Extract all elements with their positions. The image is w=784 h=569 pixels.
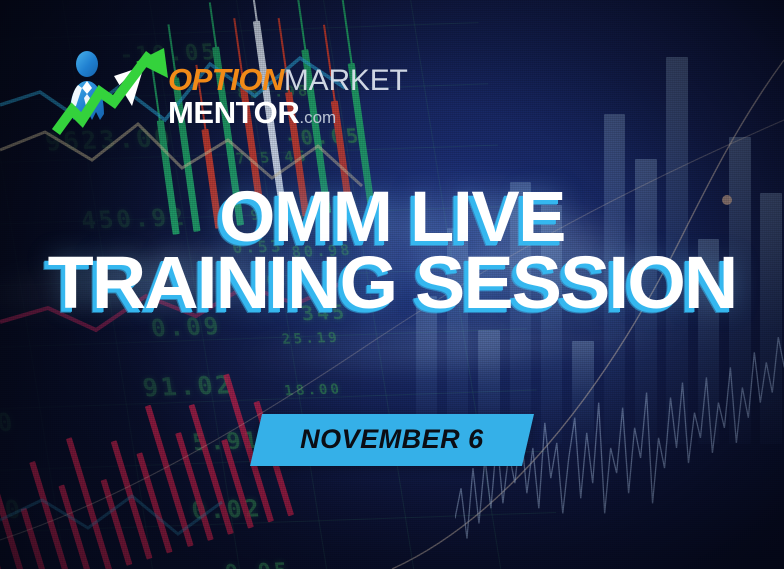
date-badge-wrap: NOVEMBER 6 — [0, 414, 784, 466]
date-badge-label: NOVEMBER 6 — [300, 424, 484, 455]
logo-mark — [52, 48, 170, 136]
brand-logo[interactable]: OPTIONMARKET MENTOR.com — [52, 48, 342, 140]
headline-line-2: TRAINING SESSION — [0, 250, 784, 317]
logo-wordmark: OPTIONMARKET MENTOR.com — [168, 64, 408, 128]
logo-word-market: MARKET — [284, 64, 408, 97]
logo-word-option: OPTION — [168, 62, 284, 97]
logo-word-com: .com — [299, 108, 336, 127]
date-badge[interactable]: NOVEMBER 6 — [250, 414, 534, 466]
logo-word-mentor: MENTOR — [168, 95, 299, 130]
promo-banner: .78 9623.00 -0.05 -10.05 .09 450.92 0.53… — [0, 0, 784, 569]
page-title: OMM LIVE TRAINING SESSION — [0, 186, 784, 316]
green-up-arrow-icon — [56, 48, 168, 132]
